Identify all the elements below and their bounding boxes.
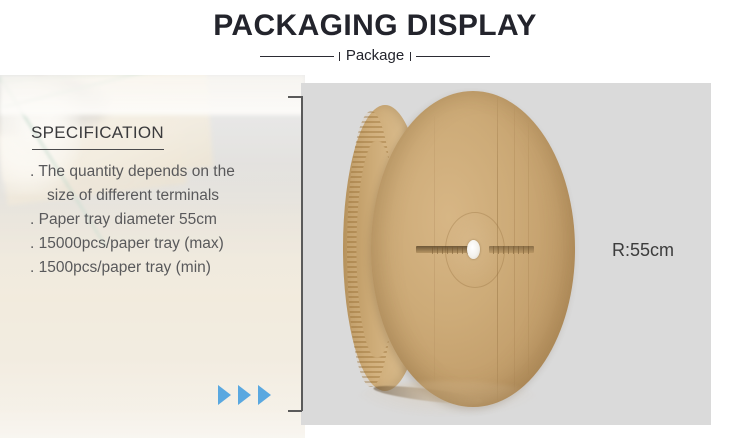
divider-tick-left [339, 52, 340, 61]
spec-item: size of different terminals [30, 184, 298, 208]
dimension-bracket-cap-top [288, 96, 302, 98]
spec-item: . Paper tray diameter 55cm [30, 208, 298, 232]
arrow-indicator-group [218, 385, 271, 405]
triangle-right-icon [218, 385, 231, 405]
tray-center-hole [467, 240, 480, 259]
specification-underline [32, 149, 164, 150]
divider-line-left [260, 56, 334, 57]
specification-block: SPECIFICATION . The quantity depends on … [0, 75, 305, 438]
spec-item: . 1500pcs/paper tray (min) [30, 256, 298, 280]
dimension-bracket-line [301, 96, 303, 411]
tray-slot-right-ticks [493, 246, 530, 254]
divider-line-right [416, 56, 490, 57]
triangle-right-icon [238, 385, 251, 405]
spec-item: . 15000pcs/paper tray (max) [30, 232, 298, 256]
page-title: PACKAGING DISPLAY [0, 9, 750, 43]
tray-slot-left-ticks [432, 246, 469, 254]
specification-heading: SPECIFICATION [31, 123, 164, 143]
triangle-right-icon [258, 385, 271, 405]
dimension-bracket-cap-bottom [288, 410, 302, 412]
tray-reflection [357, 381, 537, 415]
specification-list: . The quantity depends on the size of di… [30, 160, 298, 280]
paper-tray-reel-image [343, 91, 575, 407]
dimension-label: R:55cm [612, 239, 674, 261]
divider-tick-right [410, 52, 411, 61]
spec-item: . The quantity depends on the [30, 160, 298, 184]
tray-front-face [371, 91, 575, 407]
subtitle-divider: Package [0, 45, 750, 67]
packaging-display-page: PACKAGING DISPLAY Package SPECIFICATION … [0, 0, 750, 445]
subtitle-label: Package [345, 47, 405, 65]
